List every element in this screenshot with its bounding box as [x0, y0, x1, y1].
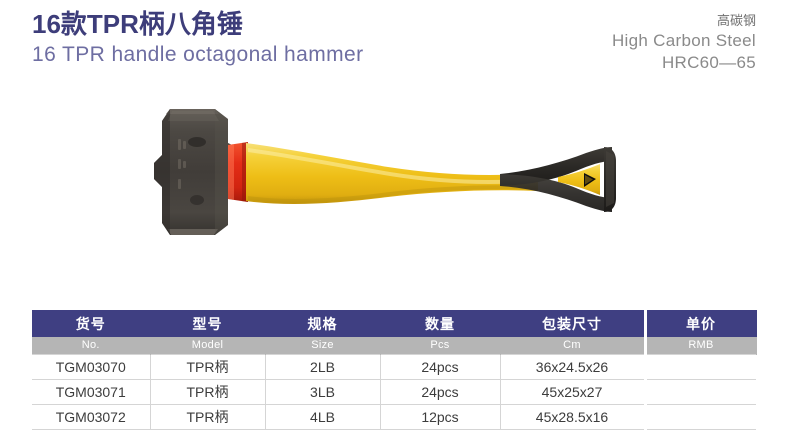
cell-model: TPR柄 — [150, 404, 265, 429]
cell-size: 2LB — [265, 354, 380, 379]
cell-cm: 45x25x27 — [500, 379, 645, 404]
th-no-en: No. — [32, 337, 150, 354]
cell-pcs: 24pcs — [380, 354, 500, 379]
th-cm-en: Cm — [500, 337, 645, 354]
cell-no: TGM03072 — [32, 404, 150, 429]
table-row: TGM03071 TPR柄 3LB 24pcs 45x25x27 — [32, 379, 756, 404]
th-cm-cn: 包装尺寸 — [500, 310, 645, 337]
table-header-row-en: No. Model Size Pcs Cm RMB — [32, 337, 756, 354]
page-title-cn: 16款TPR柄八角锤 — [32, 10, 363, 39]
product-image — [140, 95, 640, 265]
cell-rmb — [645, 404, 756, 429]
th-rmb-en: RMB — [645, 337, 756, 354]
cell-cm: 36x24.5x26 — [500, 354, 645, 379]
th-size-cn: 规格 — [265, 310, 380, 337]
product-title-block: 16款TPR柄八角锤 16 TPR handle octagonal hamme… — [32, 10, 363, 68]
catalog-page: 16款TPR柄八角锤 16 TPR handle octagonal hamme… — [0, 0, 800, 437]
th-pcs-cn: 数量 — [380, 310, 500, 337]
table-header-row-cn: 货号 型号 规格 数量 包装尺寸 单价 — [32, 310, 756, 337]
hammer-collar-icon — [228, 142, 248, 202]
material-label-en: High Carbon Steel — [612, 30, 756, 52]
cell-model: TPR柄 — [150, 379, 265, 404]
hammer-grip-icon — [500, 147, 616, 212]
hammer-head-icon — [154, 109, 236, 235]
th-size-en: Size — [265, 337, 380, 354]
th-no-cn: 货号 — [32, 310, 150, 337]
cell-model: TPR柄 — [150, 354, 265, 379]
cell-size: 3LB — [265, 379, 380, 404]
table-row: TGM03072 TPR柄 4LB 12pcs 45x28.5x16 — [32, 404, 756, 429]
hardness-label: HRC60—65 — [612, 52, 756, 74]
specification-table: 货号 型号 规格 数量 包装尺寸 单价 No. Model Size Pcs C… — [32, 310, 757, 430]
cell-cm: 45x28.5x16 — [500, 404, 645, 429]
cell-pcs: 24pcs — [380, 379, 500, 404]
cell-no: TGM03070 — [32, 354, 150, 379]
material-spec-block: 高碳钢 High Carbon Steel HRC60—65 — [612, 12, 756, 74]
cell-size: 4LB — [265, 404, 380, 429]
th-model-cn: 型号 — [150, 310, 265, 337]
hammer-handle-icon — [246, 143, 538, 204]
cell-rmb — [645, 379, 756, 404]
cell-rmb — [645, 354, 756, 379]
th-model-en: Model — [150, 337, 265, 354]
material-label-cn: 高碳钢 — [612, 12, 756, 30]
page-title-en: 16 TPR handle octagonal hammer — [32, 42, 363, 68]
cell-pcs: 12pcs — [380, 404, 500, 429]
th-rmb-cn: 单价 — [645, 310, 756, 337]
th-pcs-en: Pcs — [380, 337, 500, 354]
cell-no: TGM03071 — [32, 379, 150, 404]
table-row: TGM03070 TPR柄 2LB 24pcs 36x24.5x26 — [32, 354, 756, 379]
